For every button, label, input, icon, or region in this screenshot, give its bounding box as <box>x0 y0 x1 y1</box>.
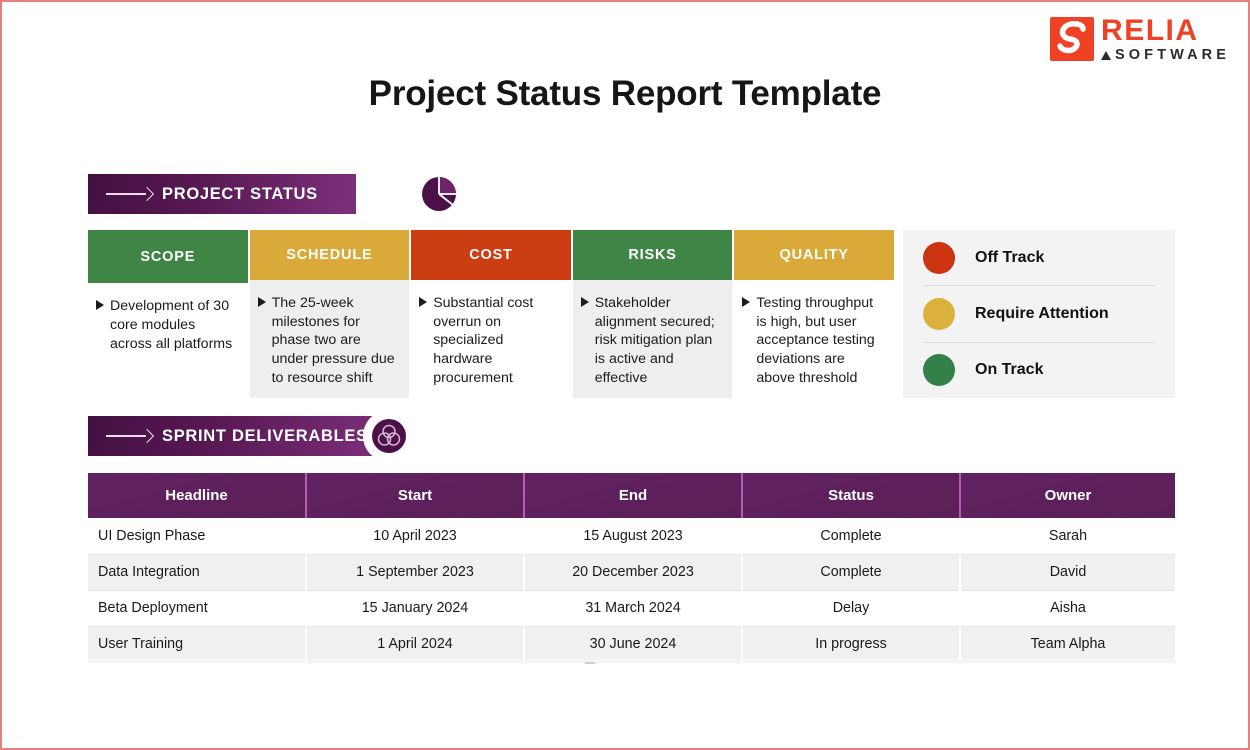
column-header-headline[interactable]: Headline <box>88 473 306 518</box>
legend-dot-icon <box>923 298 955 330</box>
cell-owner: Aisha <box>960 590 1175 626</box>
page-title: Project Status Report Template <box>2 74 1248 114</box>
table-header-row: Headline Start End Status Owner <box>88 473 1175 518</box>
pie-chart-icon <box>413 168 465 220</box>
venn-diagram-icon <box>363 410 415 462</box>
cell-start: 10 April 2023 <box>306 518 524 554</box>
status-card-body: Stakeholder alignment secured; risk miti… <box>573 280 733 398</box>
status-card-title: RISKS <box>573 230 733 280</box>
relia-software-logo: RELIA SOFTWARE <box>1050 16 1230 63</box>
cell-start: 1 April 2024 <box>306 626 524 662</box>
status-card-title: SCOPE <box>88 230 248 283</box>
cell-end: 15 August 2023 <box>524 518 742 554</box>
legend-item-require-attention: Require Attention <box>923 286 1155 342</box>
cell-headline: UI Design Phase <box>88 518 306 554</box>
status-card-text: Testing throughput is high, but user acc… <box>756 294 884 388</box>
cell-status: Delay <box>742 590 960 626</box>
cell-start: 1 September 2023 <box>306 554 524 590</box>
sprint-deliverables-table: Headline Start End Status Owner UI Desig… <box>88 473 1175 663</box>
status-card-text: The 25-week milestones for phase two are… <box>272 294 400 388</box>
status-card-body: Development of 30 core modules across al… <box>88 283 248 398</box>
section-banner-label: PROJECT STATUS <box>162 185 318 204</box>
section-banner-label: SPRINT DELIVERABLES <box>162 427 368 446</box>
status-card-body: The 25-week milestones for phase two are… <box>250 280 410 398</box>
report-page: RELIA SOFTWARE Project Status Report Tem… <box>2 2 1248 748</box>
status-card-title: COST <box>411 230 571 280</box>
status-card-text: Stakeholder alignment secured; risk miti… <box>595 294 723 388</box>
triangle-icon <box>1101 51 1111 60</box>
logo-sub-label: SOFTWARE <box>1115 47 1230 63</box>
status-card-body: Testing throughput is high, but user acc… <box>734 280 894 398</box>
column-header-start[interactable]: Start <box>306 473 524 518</box>
cell-end: 30 June 2024 <box>524 626 742 662</box>
section-banner-project-status: PROJECT STATUS <box>88 174 356 214</box>
logo-brand-text: RELIA <box>1101 16 1230 46</box>
bullet-icon <box>419 297 427 307</box>
cell-end: 20 December 2023 <box>524 554 742 590</box>
bullet-icon <box>742 297 750 307</box>
status-card-text: Substantial cost overrun on specialized … <box>433 294 561 388</box>
cell-end: 31 March 2024 <box>524 590 742 626</box>
cell-status: In progress <box>742 626 960 662</box>
status-card-title: QUALITY <box>734 230 894 280</box>
project-status-cards: SCOPE Development of 30 core modules acr… <box>88 230 894 398</box>
status-legend: Off Track Require Attention On Track <box>903 230 1175 398</box>
legend-label: Off Track <box>975 249 1044 267</box>
status-card-cost: COST Substantial cost overrun on special… <box>411 230 573 398</box>
status-card-text: Development of 30 core modules across al… <box>110 297 238 388</box>
arrow-right-icon <box>106 188 154 200</box>
column-header-status[interactable]: Status <box>742 473 960 518</box>
status-card-schedule: SCHEDULE The 25-week milestones for phas… <box>250 230 412 398</box>
table-row[interactable]: User Training 1 April 2024 30 June 2024 … <box>88 626 1175 662</box>
table-bottom-tick <box>585 662 595 664</box>
bullet-icon <box>96 300 104 310</box>
bullet-icon <box>258 297 266 307</box>
legend-label: On Track <box>975 361 1043 379</box>
relia-s-mark-icon <box>1050 17 1094 61</box>
logo-wordmark: RELIA SOFTWARE <box>1101 16 1230 63</box>
cell-owner: Team Alpha <box>960 626 1175 662</box>
table-row[interactable]: Data Integration 1 September 2023 20 Dec… <box>88 554 1175 590</box>
column-header-owner[interactable]: Owner <box>960 473 1175 518</box>
status-card-body: Substantial cost overrun on specialized … <box>411 280 571 398</box>
cell-owner: David <box>960 554 1175 590</box>
status-card-risks: RISKS Stakeholder alignment secured; ris… <box>573 230 735 398</box>
legend-item-on-track: On Track <box>923 343 1155 398</box>
legend-dot-icon <box>923 242 955 274</box>
cell-headline: Beta Deployment <box>88 590 306 626</box>
arrow-right-icon <box>106 430 154 442</box>
status-card-quality: QUALITY Testing throughput is high, but … <box>734 230 894 398</box>
status-card-title: SCHEDULE <box>250 230 410 280</box>
logo-sub-text: SOFTWARE <box>1101 48 1230 63</box>
cell-status: Complete <box>742 518 960 554</box>
table-row[interactable]: UI Design Phase 10 April 2023 15 August … <box>88 518 1175 554</box>
legend-item-off-track: Off Track <box>923 230 1155 286</box>
column-header-end[interactable]: End <box>524 473 742 518</box>
status-card-scope: SCOPE Development of 30 core modules acr… <box>88 230 250 398</box>
bullet-icon <box>581 297 589 307</box>
section-banner-sprint-deliverables: SPRINT DELIVERABLES <box>88 416 388 456</box>
cell-headline: Data Integration <box>88 554 306 590</box>
cell-status: Complete <box>742 554 960 590</box>
table-row[interactable]: Beta Deployment 15 January 2024 31 March… <box>88 590 1175 626</box>
legend-label: Require Attention <box>975 305 1109 323</box>
cell-headline: User Training <box>88 626 306 662</box>
legend-dot-icon <box>923 354 955 386</box>
cell-start: 15 January 2024 <box>306 590 524 626</box>
cell-owner: Sarah <box>960 518 1175 554</box>
